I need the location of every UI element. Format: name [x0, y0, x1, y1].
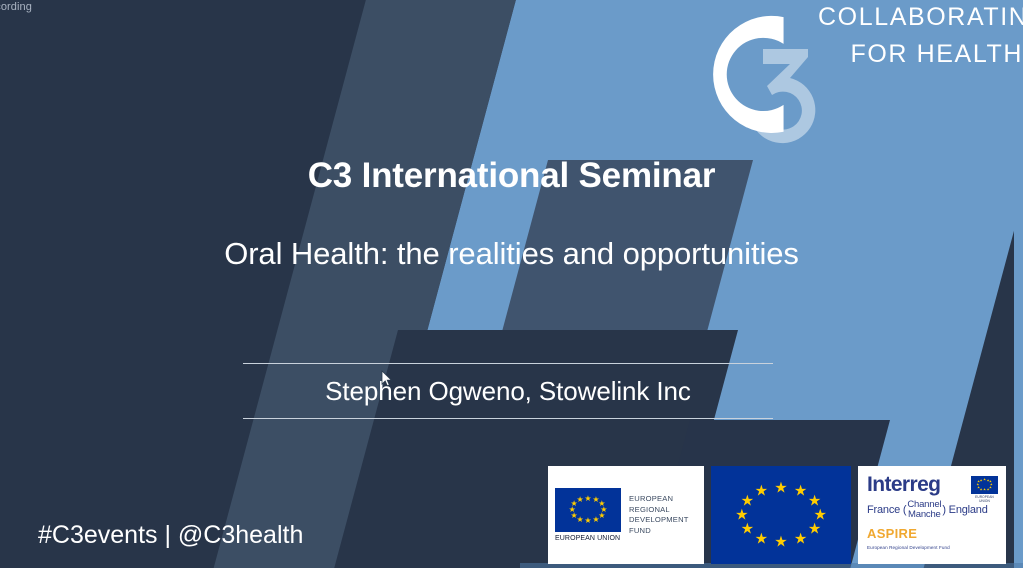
eu-star-ring: ★ ★ ★ ★ ★ ★ ★ ★ ★ ★ ★ ★: [555, 488, 621, 532]
erdf-text-line-1: EUROPEAN: [629, 494, 689, 505]
c3-logo: COLLABORATING FOR HEALTH: [668, 0, 1023, 144]
interreg-region-line: France ( Channel Manche ) England: [867, 500, 998, 520]
recording-label: ecording: [0, 1, 32, 13]
eu-flag-logo: ★ ★ ★ ★ ★ ★ ★ ★ ★ ★ ★ ★: [711, 466, 851, 564]
c3-monogram-icon: [668, 0, 828, 144]
presentation-slide: ecording COLLABORATING FOR HEALTH C3 Int…: [0, 0, 1023, 568]
funder-logo-strip: ★ ★ ★ ★ ★ ★ ★ ★ ★ ★ ★ ★ EUROPEAN UNION: [548, 466, 1006, 564]
slide-subtitle: Oral Health: the realities and opportuni…: [0, 236, 1023, 272]
erdf-flag-block: ★ ★ ★ ★ ★ ★ ★ ★ ★ ★ ★ ★ EUROPEAN UNION: [555, 488, 621, 542]
erdf-logo: ★ ★ ★ ★ ★ ★ ★ ★ ★ ★ ★ ★ EUROPEAN UNION: [548, 466, 704, 564]
interreg-region-stack: Channel Manche: [907, 500, 941, 520]
speaker-rule-bottom: [243, 418, 773, 419]
interreg-region-right: ) England: [942, 504, 987, 516]
erdf-text-block: EUROPEAN REGIONAL DEVELOPMENT FUND: [629, 494, 689, 536]
speaker-block: Stephen Ogweno, Stowelink Inc: [243, 363, 773, 419]
interreg-fund-line: European Regional Development Fund: [867, 545, 998, 550]
interreg-region-stack-bottom: Manche: [907, 510, 941, 520]
erdf-text-line-4: FUND: [629, 526, 689, 537]
interreg-header-row: Interreg ★ ★ ★ ★ ★ ★ ★ ★ ★ ★ ★ ★: [867, 475, 998, 495]
slide-title: C3 International Seminar: [0, 156, 1023, 196]
interreg-eu-flag-icon: ★ ★ ★ ★ ★ ★ ★ ★ ★ ★ ★ ★ EUROPEAN UNION: [971, 476, 998, 494]
interreg-region-left: France (: [867, 504, 906, 516]
erdf-flag-caption: EUROPEAN UNION: [555, 535, 621, 542]
social-hashtags: #C3events | @C3health: [38, 521, 303, 550]
c3-tagline-line1: COLLABORATING: [818, 0, 1023, 36]
interreg-programme-name: ASPIRE: [867, 526, 998, 541]
erdf-text-line-3: DEVELOPMENT: [629, 515, 689, 526]
eu-flag-icon: ★ ★ ★ ★ ★ ★ ★ ★ ★ ★ ★ ★: [555, 488, 621, 532]
interreg-wordmark: Interreg: [867, 475, 940, 495]
eu-flag-star-ring: ★ ★ ★ ★ ★ ★ ★ ★ ★ ★ ★ ★: [711, 466, 851, 564]
c3-tagline-line2: FOR HEALTH: [818, 36, 1023, 73]
c3-tagline: COLLABORATING FOR HEALTH: [818, 0, 1023, 73]
interreg-eu-star-ring: ★ ★ ★ ★ ★ ★ ★ ★ ★ ★ ★ ★: [971, 476, 998, 494]
erdf-text-line-2: REGIONAL: [629, 505, 689, 516]
interreg-eu-flag-caption: EUROPEAN UNION: [971, 495, 998, 503]
interreg-aspire-logo: Interreg ★ ★ ★ ★ ★ ★ ★ ★ ★ ★ ★ ★: [858, 466, 1006, 564]
speaker-name: Stephen Ogweno, Stowelink Inc: [243, 364, 773, 418]
